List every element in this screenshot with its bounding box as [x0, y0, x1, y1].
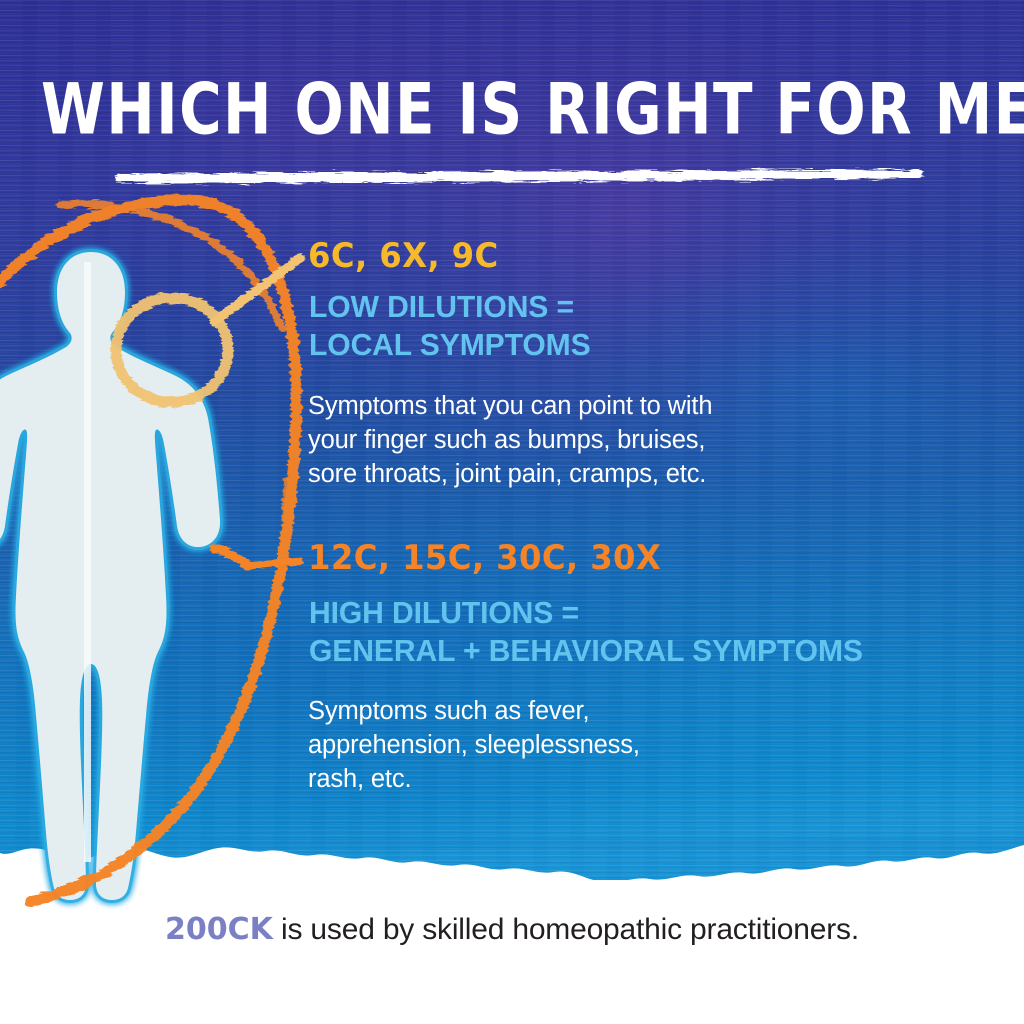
dilution-subhead-low-wrap: LOW DILUTIONS = LOCAL SYMPTOMS [309, 288, 989, 364]
page-title: WHICH ONE IS RIGHT FOR ME? [41, 74, 983, 145]
infographic-poster: WHICH ONE IS RIGHT FOR ME? 6C, 6X, 9C LO… [0, 0, 1024, 1024]
footer-potency-code: 200CK [165, 912, 273, 947]
dilution-block-high: 12C, 15C, 30C, 30X [308, 540, 680, 576]
dilution-body-low-wrap: Symptoms that you can point to with your… [308, 390, 968, 492]
brush-underline-icon [120, 172, 918, 181]
dilution-block-low: 6C, 6X, 9C [308, 238, 509, 274]
human-body-silhouette [0, 252, 220, 900]
dilution-codes-high: 12C, 15C, 30C, 30X [308, 540, 661, 576]
amber-circle-shoulder-marker [116, 298, 228, 402]
dilution-body-low: Symptoms that you can point to with your… [308, 390, 968, 492]
background-art [0, 0, 1024, 1024]
footer-note: 200CK is used by skilled homeopathic pra… [0, 912, 1024, 947]
orange-circle-whole-body-marker [0, 200, 296, 902]
amber-pointer-line [214, 258, 300, 322]
footer-note-text: is used by skilled homeopathic practitio… [273, 913, 859, 946]
dilution-codes-low: 6C, 6X, 9C [308, 238, 499, 274]
orange-pointer-tick [214, 548, 300, 566]
dilution-subhead-high-wrap: HIGH DILUTIONS = GENERAL + BEHAVIORAL SY… [309, 594, 1009, 670]
dilution-body-high-wrap: Symptoms such as fever, apprehension, sl… [308, 695, 968, 797]
dilution-subhead-low: LOW DILUTIONS = LOCAL SYMPTOMS [309, 288, 969, 364]
dilution-subhead-high: HIGH DILUTIONS = GENERAL + BEHAVIORAL SY… [309, 594, 988, 670]
dilution-body-high: Symptoms such as fever, apprehension, sl… [308, 695, 968, 797]
